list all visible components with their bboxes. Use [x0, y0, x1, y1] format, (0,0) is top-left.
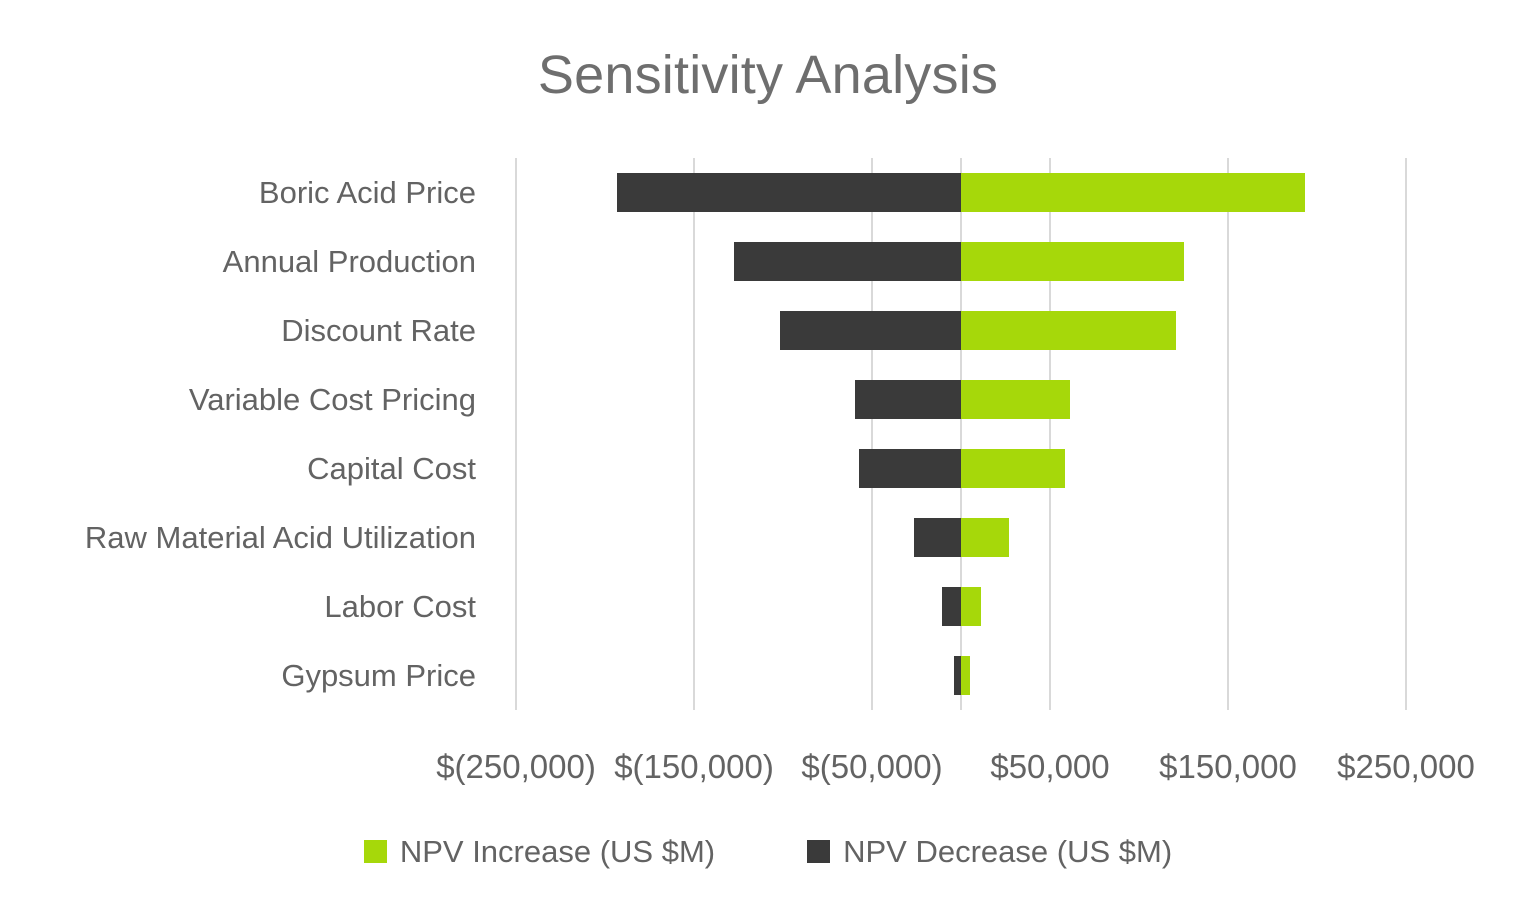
bar-segment-increase[interactable] — [961, 380, 1070, 419]
value-axis-tick-label: $(250,000) — [436, 750, 596, 783]
legend-item[interactable]: NPV Increase (US $M) — [364, 836, 715, 867]
bar-series-group — [516, 158, 1406, 710]
legend-label: NPV Increase (US $M) — [400, 836, 715, 867]
chart-legend: NPV Increase (US $M)NPV Decrease (US $M) — [0, 836, 1536, 867]
bar-row[interactable] — [516, 296, 1406, 365]
category-label: Raw Material Acid Utilization — [0, 522, 476, 553]
bar-segment-increase[interactable] — [961, 311, 1176, 350]
category-label: Labor Cost — [0, 591, 476, 622]
bar-row[interactable] — [516, 158, 1406, 227]
bar-segment-increase[interactable] — [961, 449, 1065, 488]
bar-row[interactable] — [516, 503, 1406, 572]
bar-row[interactable] — [516, 434, 1406, 503]
category-label: Boric Acid Price — [0, 177, 476, 208]
bar-row[interactable] — [516, 227, 1406, 296]
bar-row[interactable] — [516, 572, 1406, 641]
bar-segment-decrease[interactable] — [942, 587, 961, 626]
bar-segment-decrease[interactable] — [617, 173, 961, 212]
legend-swatch-icon — [364, 840, 387, 863]
category-label: Variable Cost Pricing — [0, 384, 476, 415]
bar-segment-decrease[interactable] — [855, 380, 961, 419]
bar-segment-decrease[interactable] — [914, 518, 961, 557]
category-axis-labels: Boric Acid PriceAnnual ProductionDiscoun… — [0, 158, 496, 710]
bar-segment-decrease[interactable] — [859, 449, 961, 488]
value-axis-tick-label: $50,000 — [990, 750, 1109, 783]
value-axis-tick-label: $(50,000) — [801, 750, 942, 783]
legend-item[interactable]: NPV Decrease (US $M) — [807, 836, 1172, 867]
category-label: Capital Cost — [0, 453, 476, 484]
bar-segment-increase[interactable] — [961, 587, 981, 626]
bar-segment-increase[interactable] — [961, 242, 1184, 281]
category-label: Discount Rate — [0, 315, 476, 346]
bar-segment-decrease[interactable] — [954, 656, 961, 695]
value-axis-tick-label: $150,000 — [1159, 750, 1297, 783]
plot-area — [516, 158, 1406, 710]
category-label: Annual Production — [0, 246, 476, 277]
value-axis-tick-labels: $(250,000)$(150,000)$(50,000)$50,000$150… — [0, 750, 1536, 798]
sensitivity-analysis-chart: Sensitivity Analysis Boric Acid PriceAnn… — [0, 0, 1536, 922]
value-axis-tick-label: $250,000 — [1337, 750, 1475, 783]
bar-segment-decrease[interactable] — [780, 311, 961, 350]
chart-title: Sensitivity Analysis — [0, 44, 1536, 106]
bar-row[interactable] — [516, 365, 1406, 434]
value-axis-tick-label: $(150,000) — [614, 750, 774, 783]
legend-swatch-icon — [807, 840, 830, 863]
bar-segment-increase[interactable] — [961, 173, 1305, 212]
bar-segment-decrease[interactable] — [734, 242, 961, 281]
category-label: Gypsum Price — [0, 660, 476, 691]
bar-segment-increase[interactable] — [961, 656, 970, 695]
legend-label: NPV Decrease (US $M) — [843, 836, 1172, 867]
bar-segment-increase[interactable] — [961, 518, 1009, 557]
bar-row[interactable] — [516, 641, 1406, 710]
